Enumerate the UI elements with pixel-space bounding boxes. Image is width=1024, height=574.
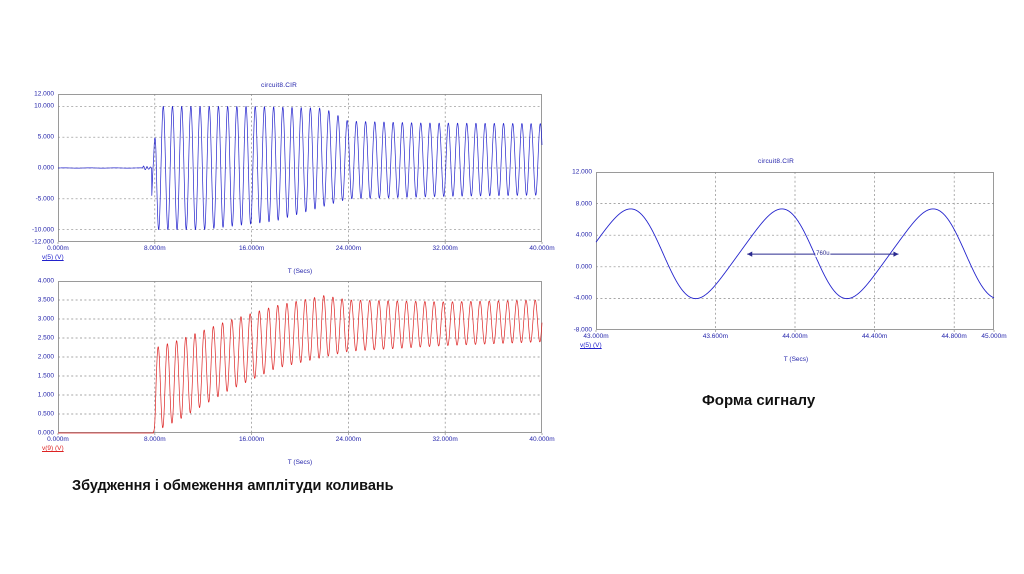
y-tick-label: 12.000 xyxy=(14,91,54,98)
x-tick-label: 32.000m xyxy=(433,245,458,252)
series-key-v5-waveform: v(5) (V) xyxy=(580,342,602,349)
y-tick-label: 3.500 xyxy=(14,297,54,304)
chart-v5-waveform: circuit8.CIR 12.0008.0004.0000.000-4.000… xyxy=(548,158,1004,358)
x-tick-label: 8.000m xyxy=(144,436,166,443)
annotation-period-label: 760u xyxy=(815,251,830,257)
y-tick-label: 0.000 xyxy=(548,263,592,270)
y-tick-label: 1.000 xyxy=(14,392,54,399)
x-tick-label: 43.600m xyxy=(703,333,728,340)
x-tick-label: 45.000m xyxy=(981,333,1006,340)
x-tick-label: 0.000m xyxy=(47,245,69,252)
y-tick-label: 0.500 xyxy=(14,411,54,418)
y-tick-label: 4.000 xyxy=(14,278,54,285)
chart-v9-transient: 4.0003.5003.0002.5002.0001.5001.0000.500… xyxy=(14,273,544,458)
plot-canvas-v5-transient xyxy=(14,82,544,267)
series-key-v9: v(9) (V) xyxy=(42,445,64,452)
caption-right: Форма сигналу xyxy=(702,392,815,409)
x-tick-label: 32.000m xyxy=(433,436,458,443)
x-tick-label: 24.000m xyxy=(336,436,361,443)
plot-canvas-v9-transient xyxy=(14,273,544,458)
chart-v5-transient: circuit8.CIR 12.00010.0005.0000.000-5.00… xyxy=(14,82,544,267)
plot-canvas-v5-waveform xyxy=(548,158,1004,358)
y-tick-label: 8.000 xyxy=(548,200,592,207)
y-tick-label: 0.000 xyxy=(14,165,54,172)
y-tick-label: 12.000 xyxy=(548,169,592,176)
x-tick-label: 16.000m xyxy=(239,436,264,443)
x-tick-label: 44.800m xyxy=(942,333,967,340)
y-tick-label: -5.000 xyxy=(14,195,54,202)
x-tick-label: 24.000m xyxy=(336,245,361,252)
y-tick-label: 3.000 xyxy=(14,316,54,323)
y-tick-label: 10.000 xyxy=(14,103,54,110)
y-tick-label: 2.000 xyxy=(14,354,54,361)
y-tick-label: 2.500 xyxy=(14,335,54,342)
slide-canvas: circuit8.CIR 12.00010.0005.0000.000-5.00… xyxy=(0,0,1024,574)
x-tick-label: 44.000m xyxy=(782,333,807,340)
x-tick-label: 0.000m xyxy=(47,436,69,443)
y-tick-label: 1.500 xyxy=(14,373,54,380)
x-axis-title-v9-transient: T (Secs) xyxy=(288,459,312,466)
x-axis-title-v5-waveform: T (Secs) xyxy=(784,356,808,363)
caption-left: Збудження і обмеження амплітуди коливань xyxy=(72,478,394,494)
y-tick-label: -4.000 xyxy=(548,295,592,302)
x-tick-label: 16.000m xyxy=(239,245,264,252)
x-tick-label: 8.000m xyxy=(144,245,166,252)
y-tick-label: 5.000 xyxy=(14,134,54,141)
x-tick-label: 43.000m xyxy=(583,333,608,340)
series-key-v5: v(5) (V) xyxy=(42,254,64,261)
y-tick-label: -10.000 xyxy=(14,226,54,233)
y-tick-label: 4.000 xyxy=(548,232,592,239)
x-tick-label: 44.400m xyxy=(862,333,887,340)
x-tick-label: 40.000m xyxy=(529,436,554,443)
